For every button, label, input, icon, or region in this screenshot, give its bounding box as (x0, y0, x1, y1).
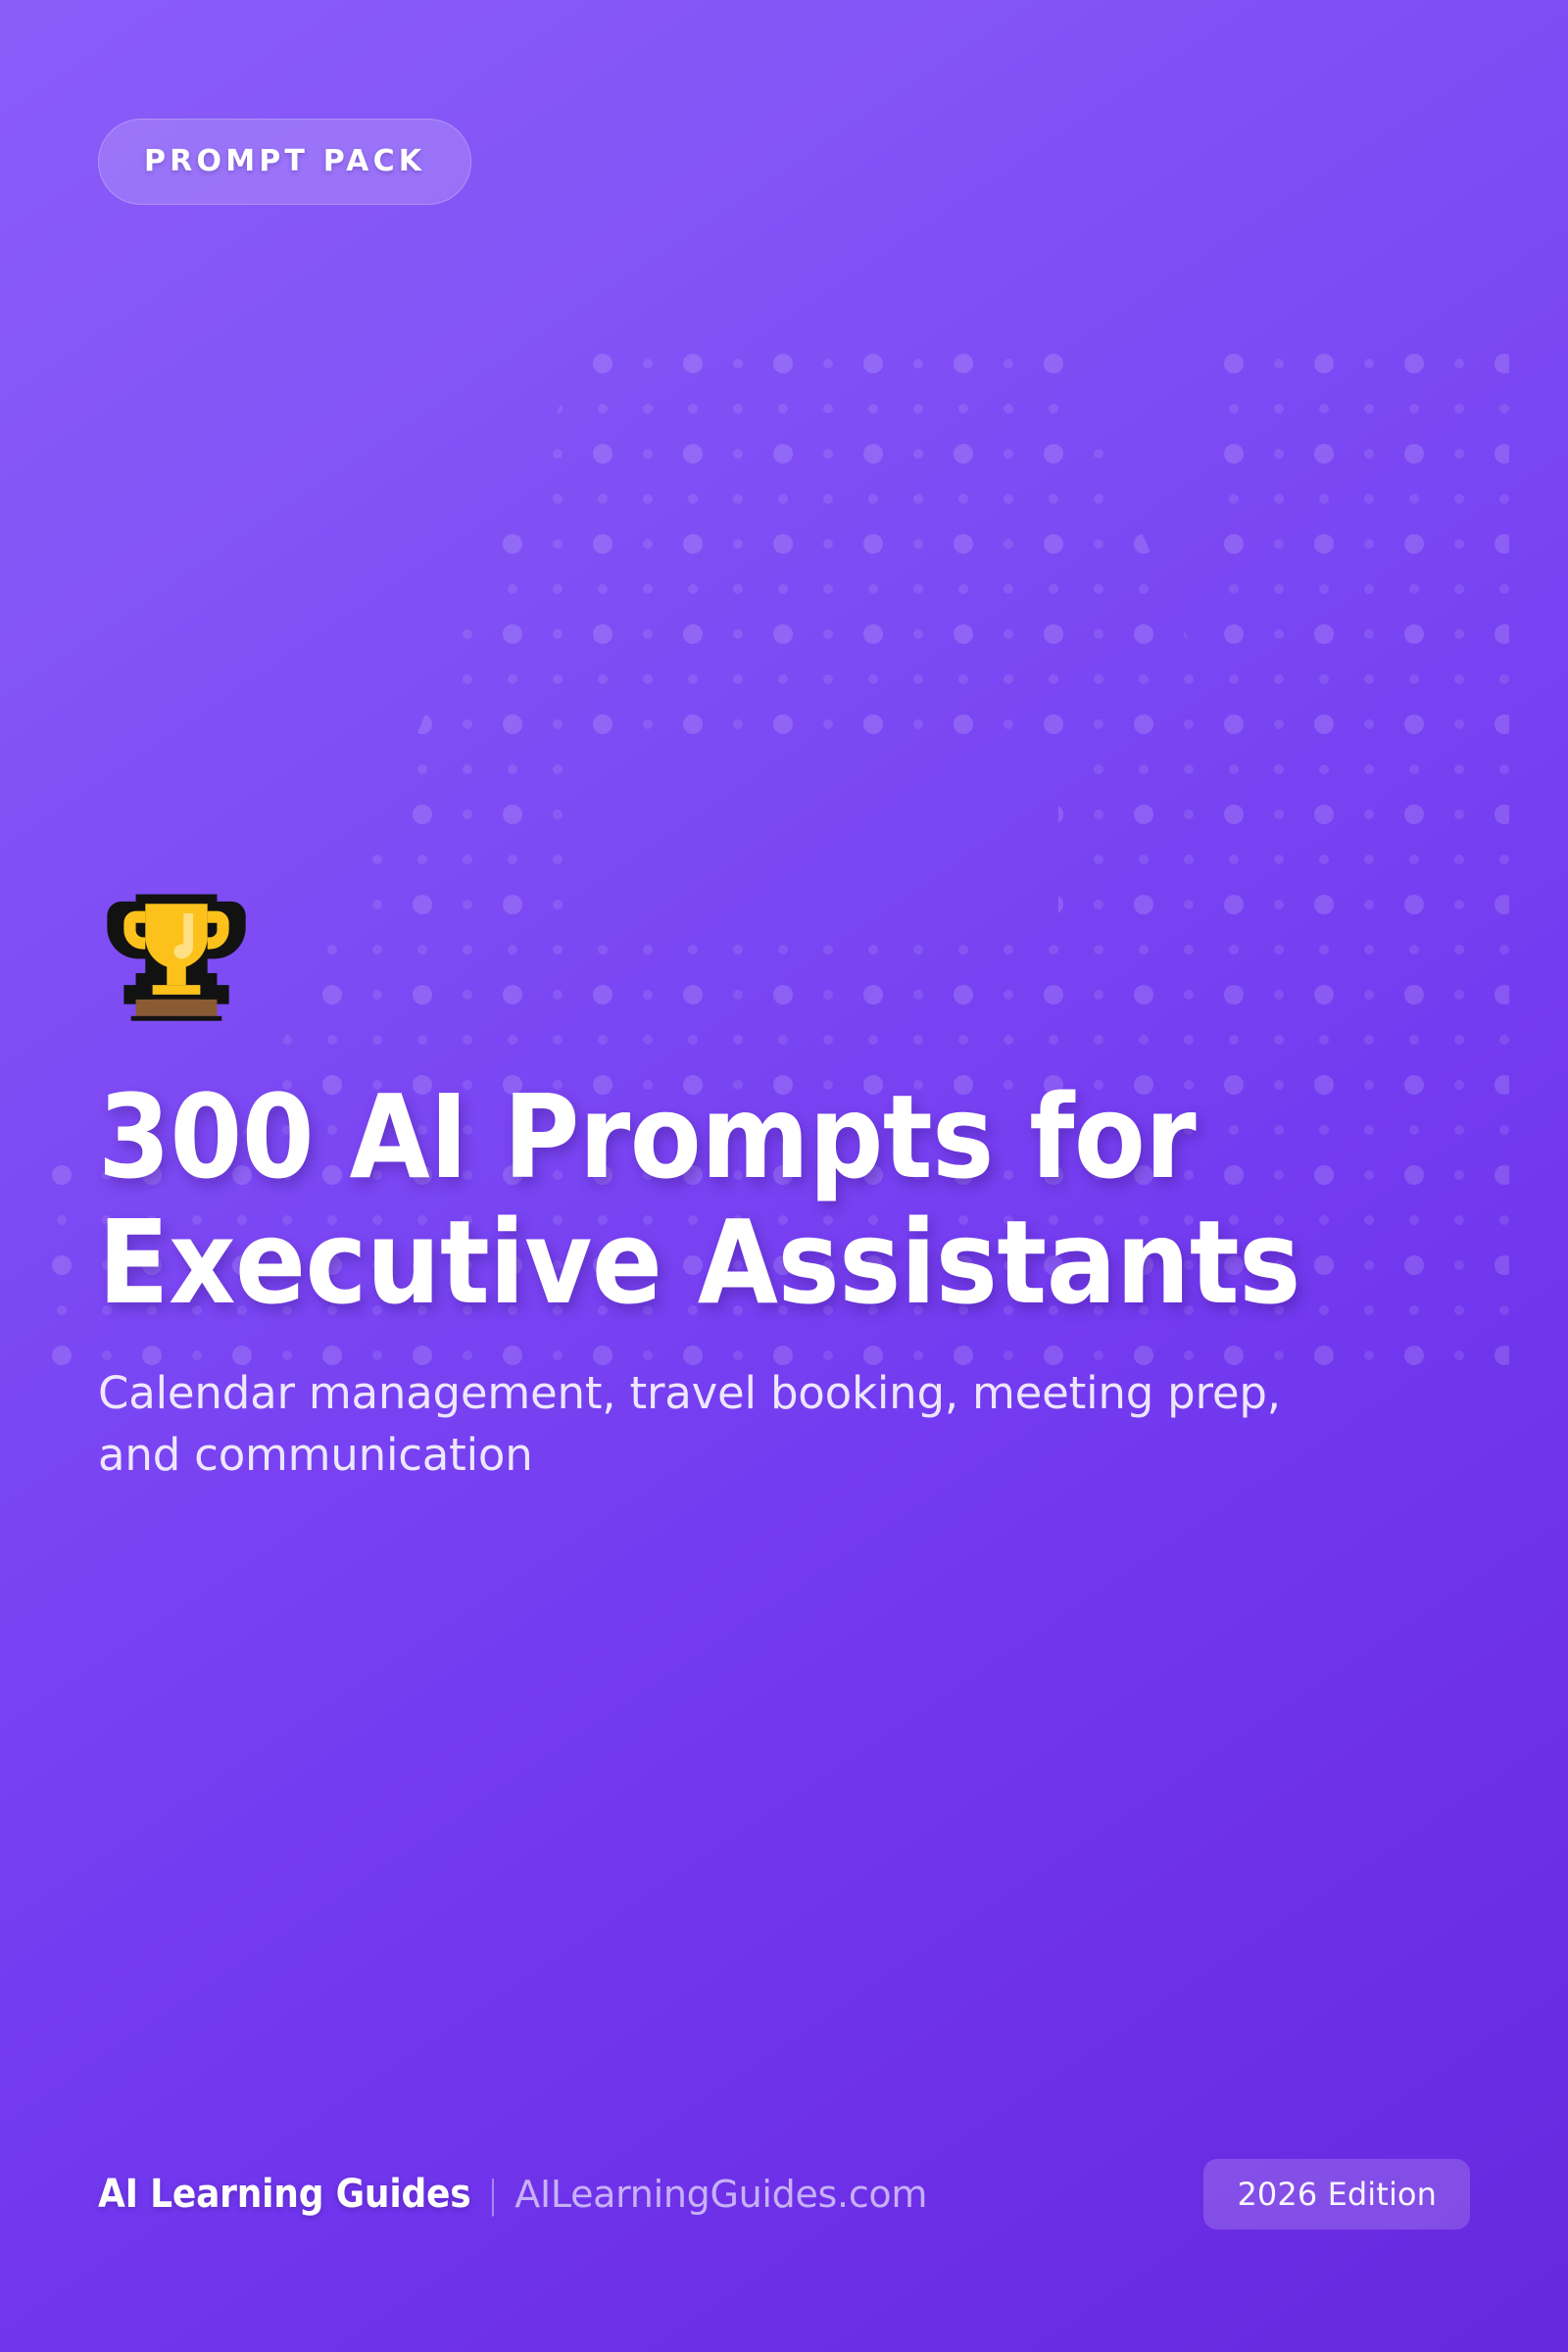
brand-name: AI Learning Guides (98, 2172, 470, 2217)
brand-lockup: AI Learning Guides | AILearningGuides.co… (98, 2172, 927, 2217)
edition-badge: 2026 Edition (1203, 2159, 1470, 2229)
cover-subtitle: Calendar management, travel booking, mee… (98, 1362, 1284, 1486)
prompt-pack-badge: PROMPT PACK (98, 119, 471, 205)
cover-title-line-1: 300 AI Prompts for (98, 1069, 1196, 1204)
cover-title-line-2: Executive Assistants (98, 1195, 1300, 1330)
prompt-pack-badge-label: PROMPT PACK (144, 147, 425, 176)
edition-badge-label: 2026 Edition (1237, 2176, 1437, 2213)
ebook-cover: PROMPT PACK 300 AI Prompts for (0, 0, 1568, 2352)
cover-title: 300 AI Prompts for Executive Assistants (98, 1074, 1372, 1325)
trophy-icon (100, 875, 253, 1028)
brand-website: AILearningGuides.com (514, 2173, 927, 2216)
brand-separator: | (486, 2176, 499, 2213)
cover-footer: AI Learning Guides | AILearningGuides.co… (98, 2152, 1470, 2236)
